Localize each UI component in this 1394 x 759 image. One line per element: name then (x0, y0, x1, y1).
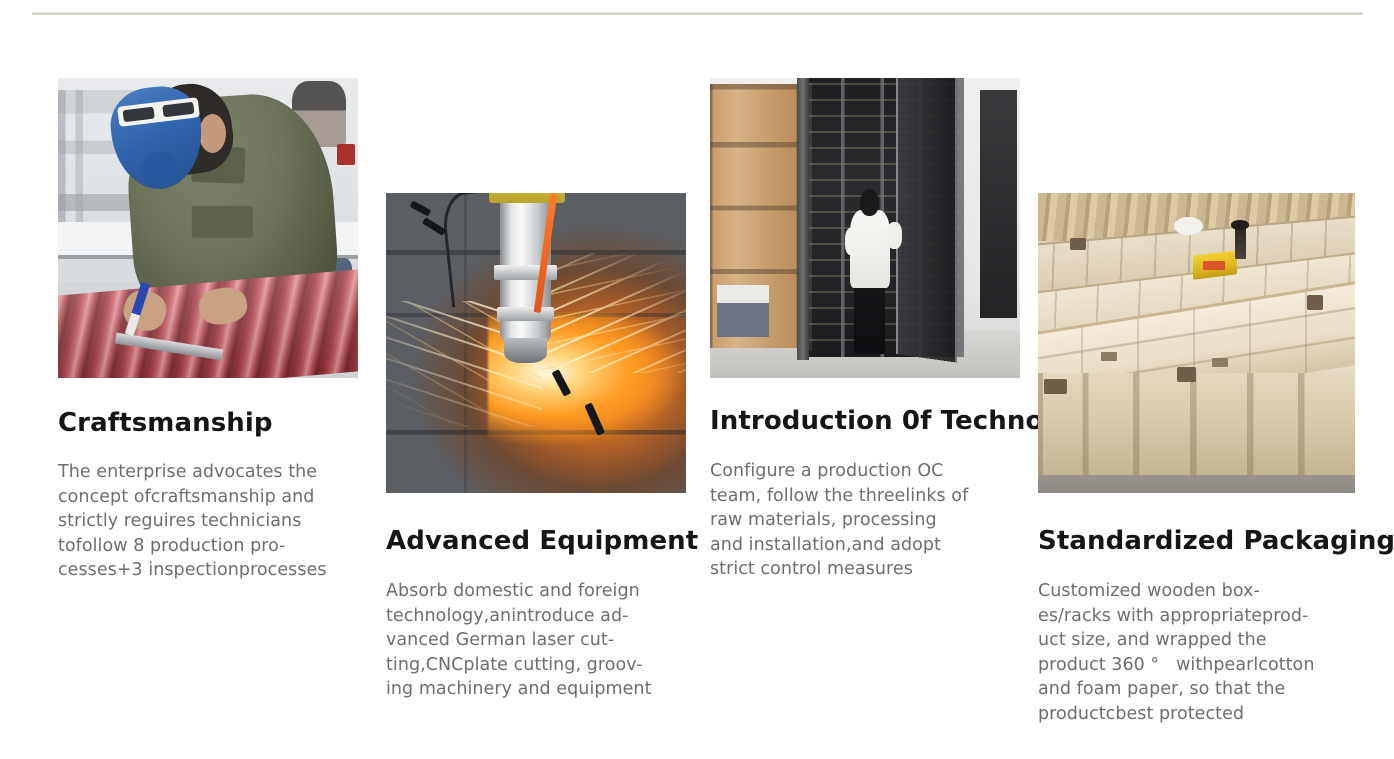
card-title: Introduction 0f Technology (710, 406, 1022, 436)
side-cabinet (980, 90, 1017, 318)
card-body: Absorb domestic and foreign technology,a… (386, 579, 688, 702)
craftsmanship-photo (58, 78, 358, 378)
crate-front-panel (1038, 373, 1355, 475)
head-collar-upper (494, 265, 557, 280)
tool-label (1203, 261, 1225, 270)
card-body: Customized wooden box- es/racks with app… (1038, 579, 1356, 726)
body-line: Customized wooden box- (1038, 579, 1356, 604)
body-line: concept ofcraftsmanship and (58, 485, 360, 510)
body-line: Configure a production OC (710, 459, 1022, 484)
tool-knob (1231, 220, 1248, 230)
crate-latch (1101, 352, 1117, 361)
slide-root: Craftsmanship The enterprise advocates t… (0, 0, 1394, 759)
feature-card-standardized-packaging: Standardized Packaging Customized wooden… (1038, 193, 1356, 726)
inspector-right-arm (887, 222, 903, 249)
corner-bracket (1177, 367, 1196, 382)
technology-photo (710, 78, 1020, 378)
body-line: strictly reguires technicians (58, 509, 360, 534)
feature-card-craftsmanship: Craftsmanship The enterprise advocates t… (58, 78, 360, 583)
photo-scene (1038, 193, 1355, 493)
advanced-equipment-photo (386, 193, 686, 493)
body-line: vanced German laser cut- (386, 628, 688, 653)
body-line: cesses+3 inspectionprocesses (58, 558, 360, 583)
tool-handle (1235, 226, 1246, 259)
corner-bracket (1307, 295, 1323, 310)
corner-bracket (1044, 379, 1066, 394)
body-line: tofollow 8 production pro- (58, 534, 360, 559)
body-line: ing machinery and equipment (386, 677, 688, 702)
photo-scene (710, 78, 1020, 378)
body-line: strict control measures (710, 557, 1022, 582)
inspector-legs (854, 282, 885, 354)
photo-scene (58, 78, 358, 378)
card-body: The enterprise advocates the concept ofc… (58, 460, 360, 583)
red-container (337, 144, 355, 165)
card-body: Configure a production OC team, follow t… (710, 459, 1022, 582)
sparks-right (542, 253, 686, 373)
body-line: The enterprise advocates the (58, 460, 360, 485)
feature-card-advanced-equipment: Advanced Equipment Absorb domestic and f… (386, 193, 688, 702)
open-door-leaf (896, 78, 957, 363)
body-line: product 360 ° withpearlcotton (1038, 653, 1356, 678)
corner-bracket (1070, 238, 1086, 250)
crate-latch (1212, 358, 1228, 367)
body-line: Absorb domestic and foreign (386, 579, 688, 604)
feature-card-introduction-of-technology: Introduction 0f Technology Configure a p… (710, 78, 1022, 582)
card-title: Craftsmanship (58, 408, 360, 438)
top-accent-rule (32, 12, 1363, 15)
body-line: uct size, and wrapped the (1038, 628, 1356, 653)
card-title: Advanced Equipment (386, 526, 688, 556)
door-frame-left (797, 78, 809, 360)
plywood-crate-panel (710, 84, 800, 348)
worker-ear (199, 114, 226, 153)
head-collar-lower (497, 307, 554, 321)
body-line: and installation,and adopt (710, 533, 1022, 558)
inspector-left-arm (845, 228, 857, 255)
card-title: Standardized Packaging (1038, 526, 1356, 556)
photo-scene (386, 193, 686, 493)
body-line: ting,CNCplate cutting, groov- (386, 653, 688, 678)
body-line: raw materials, processing (710, 508, 1022, 533)
inspector-head (860, 189, 879, 216)
body-line: productcbest protected (1038, 702, 1356, 727)
packaging-photo (1038, 193, 1355, 493)
body-line: technology,anintroduce ad- (386, 604, 688, 629)
body-line: and foam paper, so that the (1038, 677, 1356, 702)
body-line: es/racks with appropriateprod- (1038, 604, 1356, 629)
body-line: team, follow the threelinks of (710, 484, 1022, 509)
wrapped-bundle (1174, 217, 1203, 235)
